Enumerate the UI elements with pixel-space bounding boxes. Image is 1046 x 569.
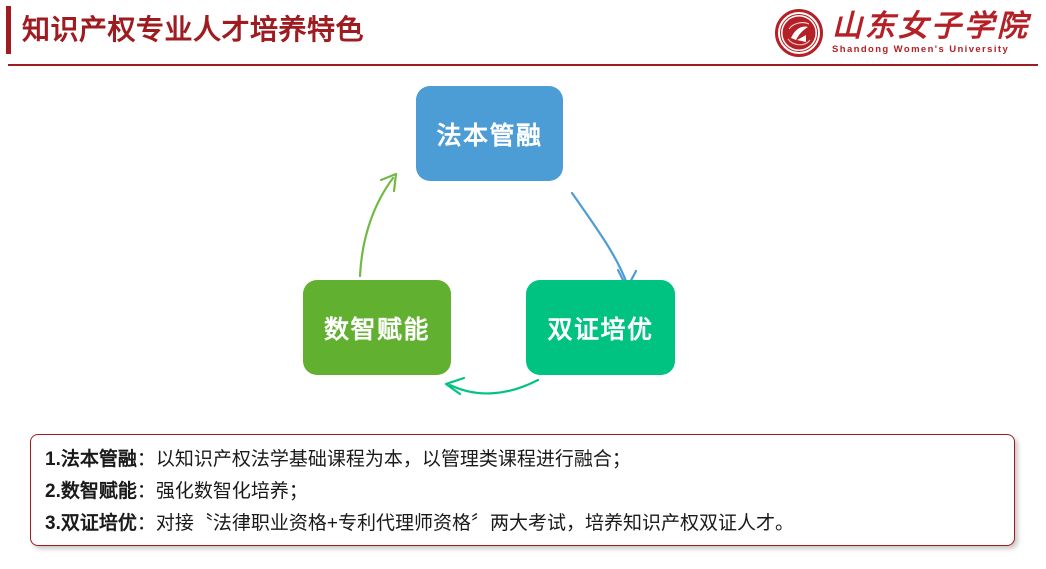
logo-english-name: Shandong Women's University — [832, 43, 1009, 56]
page-title: 知识产权专业人才培养特色 — [22, 10, 364, 50]
university-seal-icon — [775, 9, 823, 57]
cycle-node-left-label: 数智赋能 — [324, 310, 430, 346]
university-logo: 山东女子学院 Shandong Women's University — [775, 6, 1030, 60]
title-accent-bar — [6, 6, 11, 54]
description-line-1-text: 以知识产权法学基础课程为本，以管理类课程进行融合； — [156, 449, 631, 470]
description-line-1-number: 1. — [45, 449, 61, 470]
description-line-3: 3.双证培优：对接〝法律职业资格+专利代理师资格〞两大考试，培养知识产权双证人才… — [45, 508, 1000, 540]
cycle-node-left[interactable]: 数智赋能 — [303, 280, 451, 375]
description-line-3-number: 3. — [45, 513, 61, 534]
logo-text-block: 山东女子学院 Shandong Women's University — [832, 9, 1030, 57]
cycle-node-right-label: 双证培优 — [547, 310, 653, 346]
arrow-left-to-top — [360, 174, 396, 276]
arrow-right-to-left — [446, 378, 538, 394]
slide-header: 知识产权专业人才培养特色 山东女子学院 Shandong Women's Uni… — [0, 0, 1046, 68]
logo-chinese-name: 山东女子学院 — [832, 11, 1030, 43]
description-line-2-separator: ： — [137, 481, 156, 502]
description-line-3-text: 对接〝法律职业资格+专利代理师资格〞两大考试，培养知识产权双证人才。 — [156, 513, 794, 534]
description-line-2: 2.数智赋能：强化数智化培养； — [45, 476, 1000, 508]
cycle-diagram: 法本管融 双证培优 数智赋能 — [280, 80, 710, 400]
description-line-3-separator: ： — [137, 513, 156, 534]
description-line-1: 1.法本管融：以知识产权法学基础课程为本，以管理类课程进行融合； — [45, 444, 1000, 476]
description-line-3-term: 双证培优 — [61, 513, 137, 534]
cycle-node-top-label: 法本管融 — [436, 116, 542, 152]
description-line-1-separator: ： — [137, 449, 156, 470]
header-divider — [8, 64, 1038, 66]
description-line-2-number: 2. — [45, 481, 61, 502]
arrow-top-to-right — [572, 193, 636, 288]
description-line-2-term: 数智赋能 — [61, 481, 137, 502]
description-line-2-text: 强化数智化培养； — [156, 481, 308, 502]
description-box: 1.法本管融：以知识产权法学基础课程为本，以管理类课程进行融合； 2.数智赋能：… — [30, 434, 1015, 546]
cycle-node-top[interactable]: 法本管融 — [416, 86, 563, 181]
cycle-node-right[interactable]: 双证培优 — [526, 280, 675, 375]
description-line-1-term: 法本管融 — [61, 449, 137, 470]
